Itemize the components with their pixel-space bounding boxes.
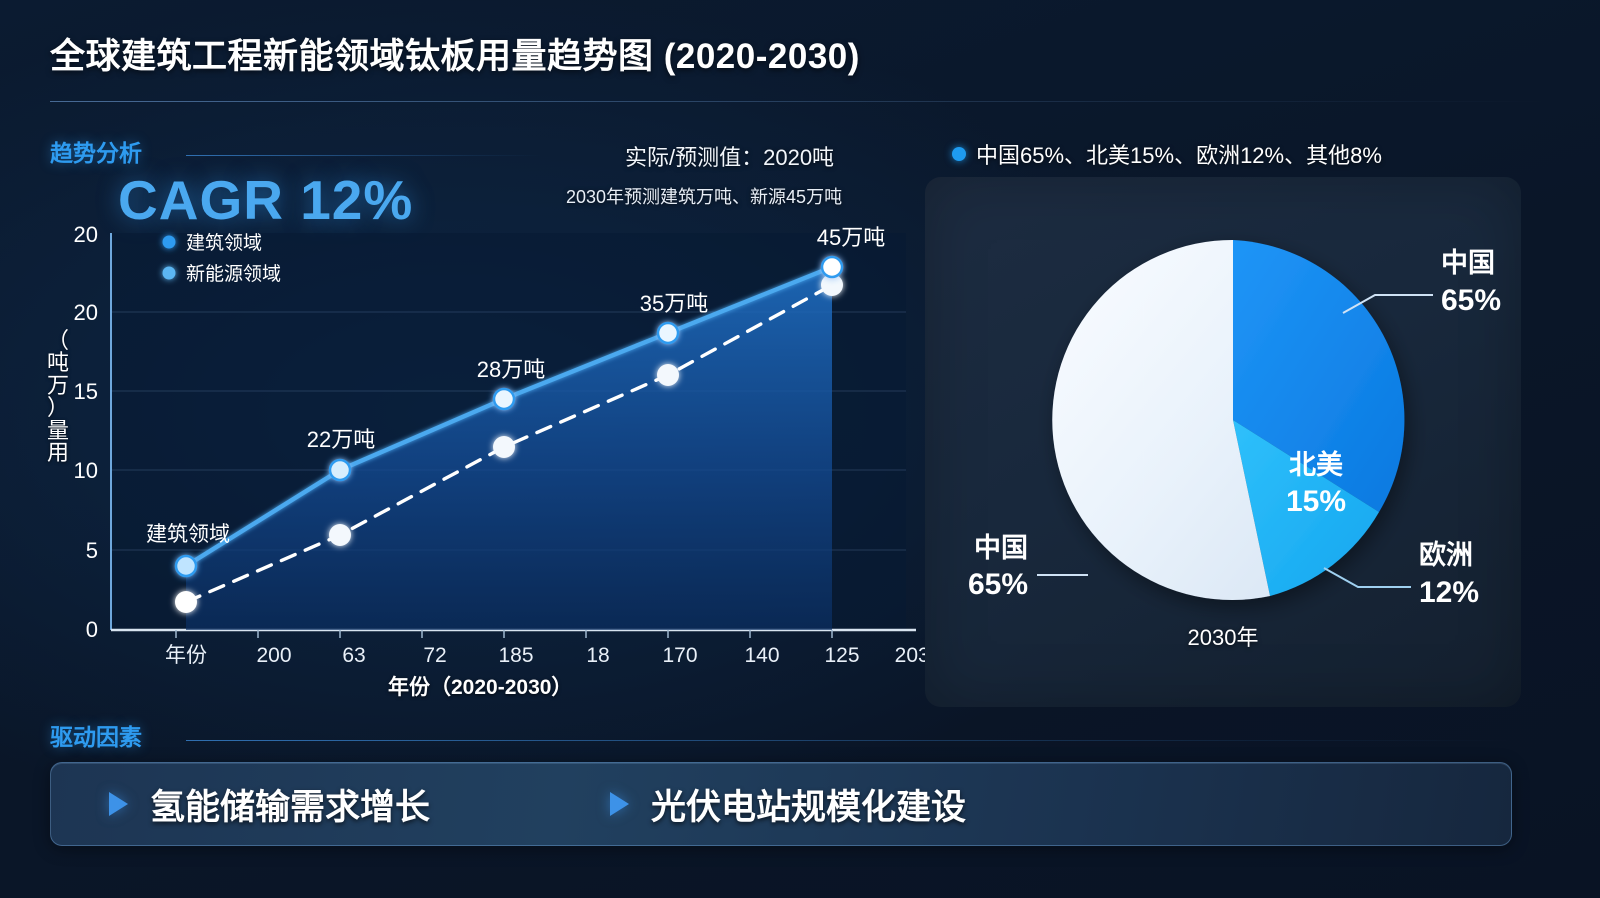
pie-label-china-right-value: 65% (1441, 284, 1501, 317)
x-axis-title: 年份（2020-2030） (388, 671, 572, 701)
data-point[interactable] (494, 389, 514, 409)
data-point[interactable] (658, 323, 678, 343)
svg-text:20: 20 (74, 300, 98, 325)
note-actual-forecast: 实际/预测值：2020吨 (625, 140, 834, 172)
x-tick-6: 170 (662, 644, 697, 667)
y-axis-ticks: 20 20 15 10 5 0 (74, 225, 98, 642)
x-tick-0: 年份 (165, 644, 207, 667)
svg-text:0: 0 (86, 617, 98, 642)
trend-section-label: 趋势分析 (50, 134, 142, 168)
drivers-bar: 氢能储输需求增长 光伏电站规模化建设 (50, 762, 1512, 846)
x-axis-tick-labels: 年份 200 63 72 185 18 170 140 125 2030 (165, 644, 926, 667)
pie-year-label: 2030年 (925, 620, 1521, 652)
annotation-35: 35万吨 (640, 291, 708, 316)
trend-section-divider (186, 155, 542, 156)
cagr-value: CAGR 12% (118, 168, 413, 232)
pie-label-china-left-name: 中国 (974, 533, 1028, 563)
pie-label-china-left-value: 65% (968, 568, 1028, 601)
x-tick-4: 185 (498, 644, 533, 667)
data-point[interactable] (175, 591, 197, 613)
pie-label-namerica-name: 北美 (1289, 449, 1343, 480)
svg-text:15: 15 (74, 379, 98, 404)
drivers-section-divider (186, 740, 1512, 741)
page-title: 全球建筑工程新能领域钛板用量趋势图 (2020-2030) (50, 28, 860, 79)
annotation-45: 45万吨 (817, 225, 885, 250)
line-chart: 20 20 15 10 5 0 年份 200 63 72 185 18 (36, 225, 926, 675)
triangle-right-icon (610, 792, 629, 816)
x-tick-7: 140 (744, 644, 779, 667)
data-point[interactable] (657, 364, 679, 386)
data-point[interactable] (822, 257, 842, 277)
title-divider (50, 101, 1550, 102)
legend-label-new-energy: 新能源领域 (186, 263, 281, 285)
pie-slices (1052, 240, 1404, 600)
legend-label-construction: 建筑领域 (186, 232, 262, 254)
x-tick-9: 2030 (895, 644, 926, 667)
leader-line-europe (1324, 568, 1411, 587)
svg-text:20: 20 (74, 225, 98, 247)
annotation-22: 22万吨 (307, 427, 375, 452)
pie-label-europe-name: 欧洲 (1419, 540, 1473, 570)
x-tick-3: 72 (423, 644, 446, 667)
pie-legend-label: 中国65%、北美15%、欧洲12%、其他8% (976, 138, 1382, 170)
triangle-right-icon (109, 792, 128, 816)
data-point[interactable] (329, 524, 351, 546)
pie-label-europe-value: 12% (1419, 576, 1479, 609)
x-tick-8: 125 (824, 644, 859, 667)
legend-dot-construction (163, 236, 176, 249)
infographic-root: 全球建筑工程新能领域钛板用量趋势图 (2020-2030) 趋势分析 CAGR … (0, 0, 1600, 898)
annotation-28: 28万吨 (477, 357, 545, 382)
driver-item-1-label: 氢能储输需求增长 (150, 779, 430, 830)
svg-text:10: 10 (74, 458, 98, 483)
note-forecast-detail: 2030年预测建筑万吨、新源45万吨 (566, 183, 842, 209)
data-point[interactable] (176, 556, 196, 576)
x-tick-5: 18 (586, 644, 609, 667)
driver-item-1[interactable]: 氢能储输需求增长 (109, 779, 430, 830)
driver-item-2-label: 光伏电站规模化建设 (651, 779, 966, 830)
x-tick-2: 63 (342, 644, 365, 667)
pie-panel: 中国 65% 北美 15% 欧洲 12% 中国 65% 2030年 (925, 177, 1521, 707)
pie-label-china-right-name: 中国 (1441, 248, 1495, 278)
pie-legend-dot-icon (952, 147, 966, 161)
svg-text:5: 5 (86, 538, 98, 563)
driver-item-2[interactable]: 光伏电站规模化建设 (610, 779, 966, 830)
inline-series-label: 建筑领域 (146, 523, 230, 546)
drivers-section-label: 驱动因素 (50, 718, 142, 752)
x-tick-1: 200 (256, 644, 291, 667)
pie-label-namerica-value: 15% (1286, 485, 1346, 518)
data-point[interactable] (493, 436, 515, 458)
pie-legend: 中国65%、北美15%、欧洲12%、其他8% (952, 138, 1382, 170)
legend-dot-new-energy (163, 267, 176, 280)
data-point[interactable] (330, 460, 350, 480)
